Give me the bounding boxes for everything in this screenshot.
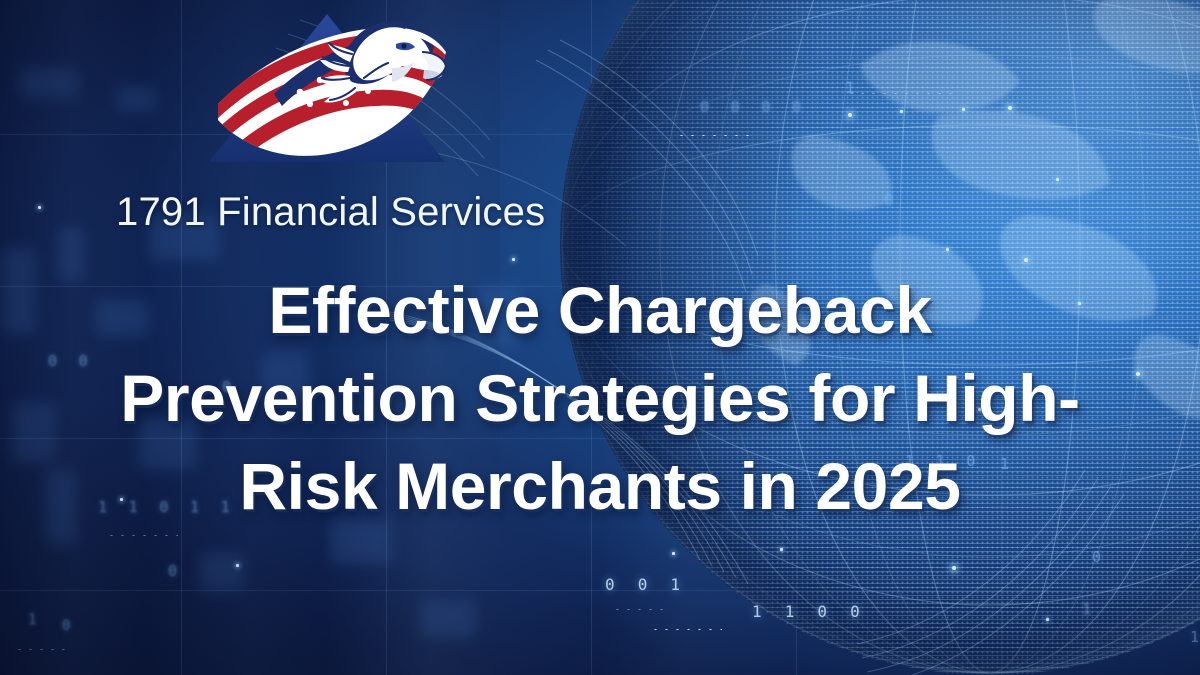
brand-name: 1791 Financial Services: [116, 190, 545, 235]
headline-line-1: Effective Chargeback: [0, 266, 1200, 354]
headline-line-2: Prevention Strategies for High-: [0, 354, 1200, 442]
presentation-slide: 0 0 0 01001 1 010 001 1 0 1 100 0 11 1 0…: [0, 0, 1200, 675]
headline-line-3: Risk Merchants in 2025: [0, 442, 1200, 530]
company-logo: [196, 8, 458, 170]
page-title: Effective Chargeback Prevention Strategi…: [0, 266, 1200, 530]
